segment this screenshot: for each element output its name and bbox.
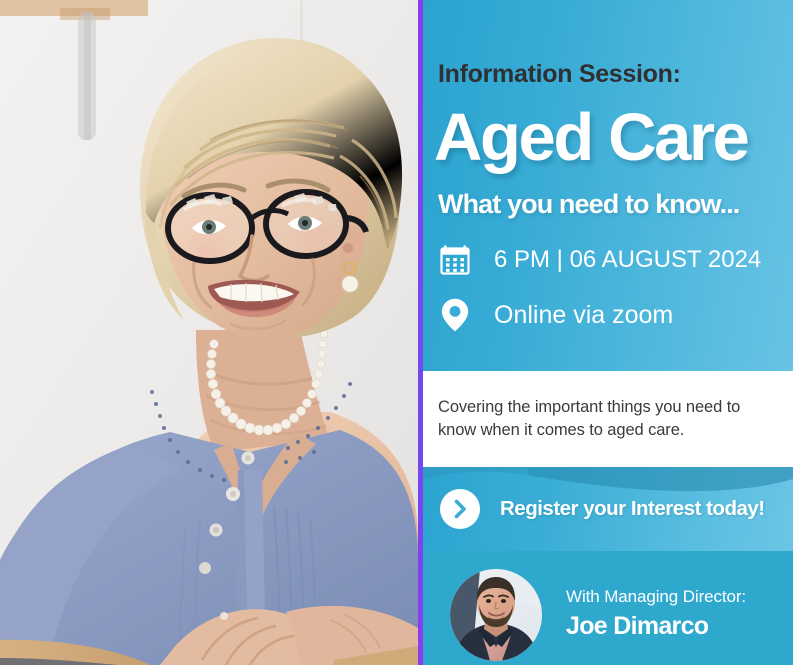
subtitle: What you need to know... bbox=[438, 191, 739, 218]
map-pin-icon bbox=[438, 297, 472, 333]
calendar-icon bbox=[438, 242, 472, 278]
presenter-role: With Managing Director: bbox=[566, 587, 746, 607]
event-location-text: Online via zoom bbox=[494, 303, 673, 328]
info-panel: Information Session: Aged Care What you … bbox=[418, 0, 793, 665]
event-date-text: 6 PM | 06 AUGUST 2024 bbox=[494, 248, 761, 272]
elderly-woman-photo-illustration bbox=[0, 0, 418, 665]
presenter-portrait-illustration bbox=[450, 569, 542, 661]
event-date-row: 6 PM | 06 AUGUST 2024 bbox=[438, 242, 761, 278]
presenter-details: With Managing Director: Joe Dimarco bbox=[566, 587, 746, 639]
eyebrow-label: Information Session: bbox=[438, 62, 681, 87]
purple-divider bbox=[418, 0, 423, 665]
chevron-right-circle-icon[interactable] bbox=[440, 489, 480, 529]
page-title: Aged Care bbox=[434, 104, 748, 171]
event-location-row: Online via zoom bbox=[438, 297, 673, 333]
description-text: Covering the important things you need t… bbox=[438, 396, 769, 443]
presenter-name: Joe Dimarco bbox=[566, 614, 746, 639]
hero-block: Information Session: Aged Care What you … bbox=[418, 0, 793, 371]
description-band: Covering the important things you need t… bbox=[418, 371, 793, 467]
register-cta-label[interactable]: Register your Interest today! bbox=[500, 497, 765, 521]
hero-photo bbox=[0, 0, 418, 665]
avatar bbox=[450, 569, 542, 661]
register-cta-band[interactable]: Register your Interest today! bbox=[418, 467, 793, 551]
promotional-poster: Information Session: Aged Care What you … bbox=[0, 0, 793, 665]
presenter-band: With Managing Director: Joe Dimarco bbox=[418, 551, 793, 665]
